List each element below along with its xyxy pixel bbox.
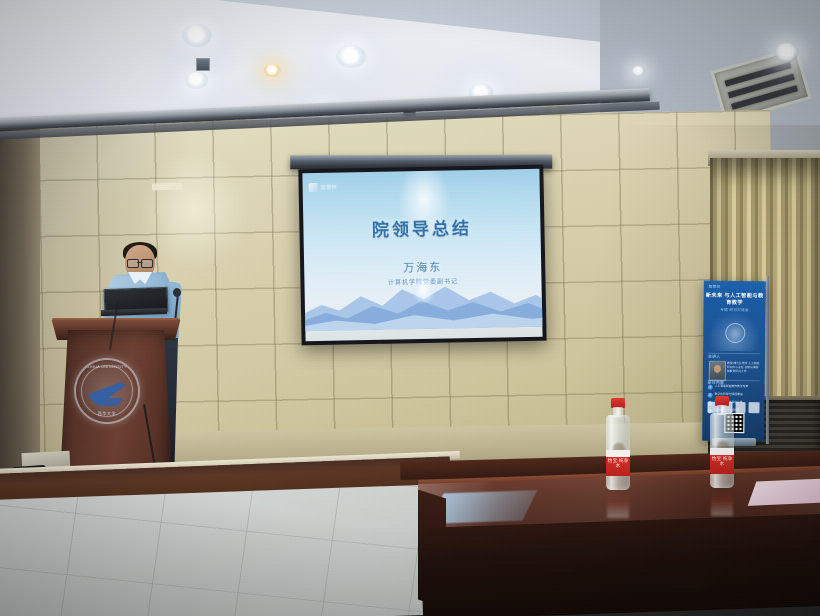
bottle-table-reflection (607, 490, 629, 518)
ceiling-downlight-1 (182, 24, 212, 47)
water-bottle[interactable]: 怡宝 纯净水 (605, 398, 631, 490)
ceiling-projector-fixture-1 (196, 58, 210, 71)
agenda-item-number: 1 (708, 385, 713, 390)
water-bottle[interactable]: 怡宝 纯净水 (709, 396, 735, 488)
sponsor-icon-3 (735, 402, 746, 413)
agenda-item-text: 人工智能赋能教育教学改革 (715, 385, 749, 389)
banner-headline: 新未来 与人工智能与教育教学 (704, 293, 766, 308)
downlight-core (780, 47, 793, 58)
microphone-icon (173, 288, 181, 297)
downlight-core (189, 29, 206, 42)
downlight-core (190, 74, 203, 84)
screen-frame: 智慧树 院领导总结 万海东 计算机学院党委副书记 (298, 165, 546, 346)
slide-logo: 智慧树 (309, 183, 338, 193)
downlight-core (634, 68, 641, 74)
portrait-face (714, 365, 721, 373)
emblem-wave-shape (94, 398, 122, 406)
ceiling-downlight-3 (264, 64, 281, 77)
slide-light-burst (413, 277, 433, 303)
glasses-left-lens (127, 259, 139, 268)
ceiling-downlight-4 (336, 45, 366, 68)
left-wall-edge (0, 120, 40, 490)
banner-support-pole (766, 276, 769, 444)
university-emblem-icon: XIHUA UNIVERSITY 西华大学 (74, 358, 140, 424)
conference-hall-photo: 智慧树 院领导总结 万海东 计算机学院党委副书记 (0, 0, 820, 616)
downlight-core (267, 66, 277, 74)
emblem-top-text: XIHUA UNIVERSITY (76, 365, 138, 369)
bottle-brand-text: 怡宝 纯净水 (606, 458, 630, 468)
slide-logo-mark (309, 183, 318, 192)
downlight-core (343, 50, 360, 63)
slide-surface: 智慧树 院领导总结 万海东 计算机学院党委副书记 (302, 169, 542, 342)
glasses-icon (127, 259, 153, 266)
banner-emblem-icon (725, 323, 745, 343)
table-front-panel (420, 513, 820, 616)
banner-bio-text: 教授 博士生导师 人工智能研究中心主任 长期从事智能教育研究工作 (727, 361, 760, 373)
ceiling-downlight-2 (185, 71, 208, 89)
bottle-label: 怡宝 纯净水 (606, 450, 630, 476)
slide-title: 院领导总结 (303, 213, 540, 243)
bottle-brand-text: 怡宝 纯净水 (710, 456, 734, 466)
banner-portrait (709, 361, 726, 381)
banner-section-profile: 主讲人 (708, 355, 720, 360)
projection-screen: 智慧树 院领导总结 万海东 计算机学院党委副书记 (298, 165, 546, 350)
ceiling-downlight-14 (775, 43, 799, 62)
floor-tiles (0, 483, 474, 616)
wall-paper-note (152, 182, 182, 190)
bottle-label: 怡宝 纯净水 (710, 448, 734, 474)
table-paper-sheet (748, 478, 820, 506)
banner-logo: 智慧树 (709, 285, 721, 290)
emblem-bottom-text: 西华大学 (76, 411, 138, 417)
ceiling-downlight-12 (632, 66, 645, 76)
slide-logo-wordmark: 智慧树 (321, 184, 338, 191)
glasses-right-lens (141, 259, 153, 268)
banner-agenda-item: 1人工智能赋能教育教学改革 (708, 385, 760, 391)
bottle-table-reflection (711, 488, 733, 516)
sponsor-icon-4 (749, 402, 760, 413)
